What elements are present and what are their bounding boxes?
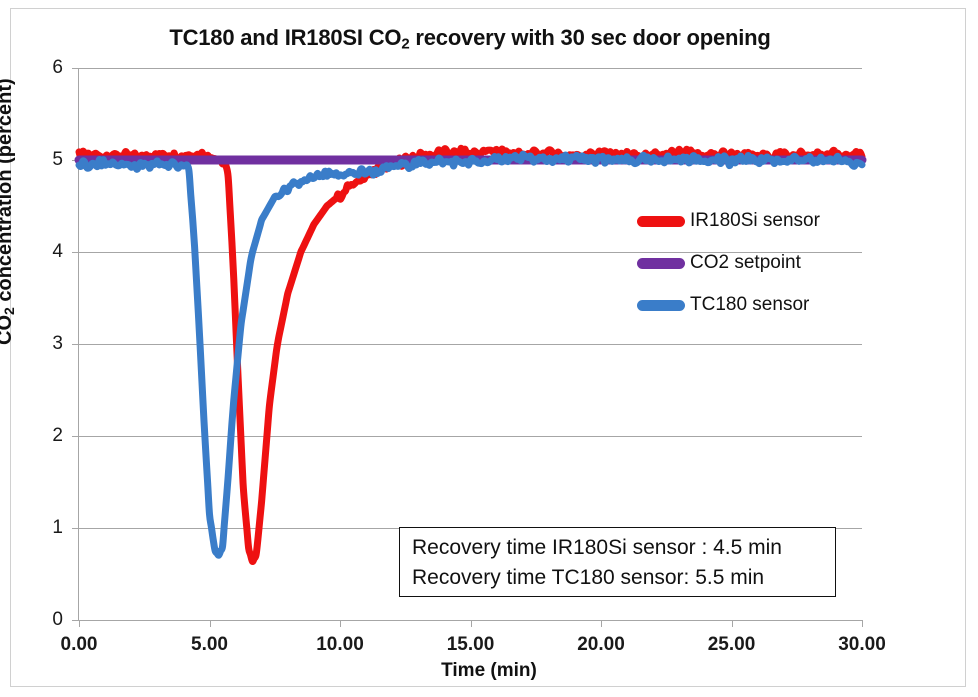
chart-title-text-before: TC180 and IR180SI CO — [169, 25, 401, 50]
annotation-line-tc180: Recovery time TC180 sensor: 5.5 min — [412, 563, 835, 593]
x-tick-label-5.00: 5.00 — [191, 634, 228, 656]
y-tick-label-1: 1 — [23, 517, 63, 539]
chart-title: TC180 and IR180SI CO2 recovery with 30 s… — [77, 25, 863, 52]
y-tick-label-5: 5 — [23, 149, 63, 171]
chart-legend: IR180Si sensor CO2 setpoint TC180 sensor — [637, 200, 847, 326]
y-tick-1 — [72, 528, 79, 529]
x-tick-20.00 — [601, 620, 602, 627]
y-tick-6 — [72, 68, 79, 69]
legend-swatch-ir180si — [637, 216, 685, 227]
y-tick-4 — [72, 252, 79, 253]
x-tick-label-25.00: 25.00 — [708, 634, 756, 656]
x-tick-label-20.00: 20.00 — [577, 634, 625, 656]
y-axis-title-text-before: CO — [0, 315, 16, 345]
x-tick-label-30.00: 30.00 — [838, 634, 886, 656]
x-axis-title: Time (min) — [0, 660, 978, 682]
y-tick-label-3: 3 — [23, 333, 63, 355]
chart-container: TC180 and IR180SI CO2 recovery with 30 s… — [0, 0, 978, 697]
y-axis-title: CO2 concentration (percent) — [0, 78, 17, 345]
x-tick-label-0.00: 0.00 — [61, 634, 98, 656]
chart-title-text-after: recovery with 30 sec door opening — [409, 25, 770, 50]
y-tick-label-2: 2 — [23, 425, 63, 447]
x-tick-25.00 — [732, 620, 733, 627]
y-tick-label-4: 4 — [23, 241, 63, 263]
legend-label-ir180si: IR180Si sensor — [690, 210, 820, 232]
y-tick-3 — [72, 344, 79, 345]
x-tick-15.00 — [471, 620, 472, 627]
legend-item-co2-setpoint[interactable]: CO2 setpoint — [637, 242, 847, 284]
y-axis-title-subscript: 2 — [1, 307, 17, 315]
legend-item-tc180[interactable]: TC180 sensor — [637, 284, 847, 326]
y-tick-label-6: 6 — [23, 57, 63, 79]
legend-swatch-tc180 — [637, 300, 685, 311]
annotation-line-ir180si: Recovery time IR180Si sensor : 4.5 min — [412, 533, 835, 563]
legend-label-tc180: TC180 sensor — [690, 294, 809, 316]
x-tick-0.00 — [79, 620, 80, 627]
x-tick-label-15.00: 15.00 — [447, 634, 495, 656]
y-axis-title-text-after: concentration (percent) — [0, 78, 16, 307]
x-tick-30.00 — [862, 620, 863, 627]
x-tick-5.00 — [210, 620, 211, 627]
legend-label-co2-setpoint: CO2 setpoint — [690, 252, 801, 274]
recovery-time-annotation-box: Recovery time IR180Si sensor : 4.5 min R… — [399, 527, 836, 597]
y-tick-2 — [72, 436, 79, 437]
legend-item-ir180si[interactable]: IR180Si sensor — [637, 200, 847, 242]
legend-swatch-co2-setpoint — [637, 258, 685, 269]
y-tick-label-0: 0 — [23, 609, 63, 631]
x-tick-label-10.00: 10.00 — [316, 634, 364, 656]
x-tick-10.00 — [340, 620, 341, 627]
y-tick-0 — [72, 620, 79, 621]
